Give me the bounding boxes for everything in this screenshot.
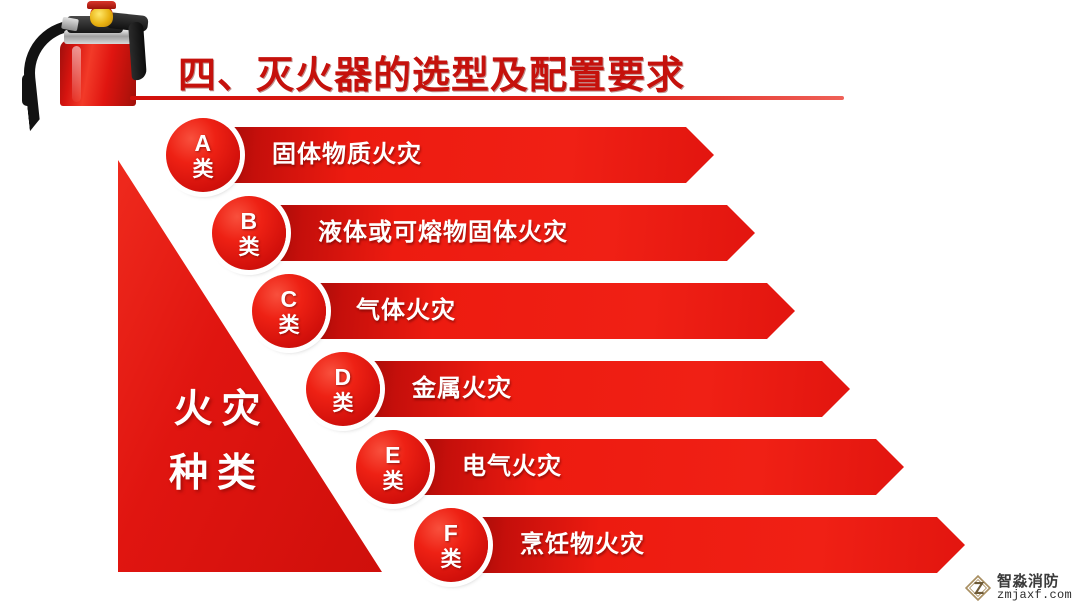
slide-canvas: 四、灭火器的选型及配置要求 火灾 种类 固体物质火灾 A 类 液体或可熔物固体火… — [0, 0, 1080, 608]
fire-class-letter: F — [414, 508, 488, 545]
watermark-url: zmjaxf.com — [997, 589, 1072, 602]
slide-header: 四、灭火器的选型及配置要求 — [0, 0, 1080, 108]
fire-class-word: 类 — [252, 311, 326, 338]
fire-class-badge-b[interactable]: B 类 — [212, 196, 286, 270]
page-title: 四、灭火器的选型及配置要求 — [178, 44, 685, 99]
fire-category-triangle-label: 火灾 种类 — [152, 378, 282, 506]
fire-class-arrow[interactable] — [270, 205, 755, 261]
fire-class-letter: A — [166, 118, 240, 155]
fire-class-word: 类 — [166, 155, 240, 182]
triangle-label-line-2: 种类 — [169, 452, 265, 495]
fire-class-badge-e[interactable]: E 类 — [356, 430, 430, 504]
fire-class-letter: B — [212, 196, 286, 233]
extinguisher-hose-tail — [22, 74, 34, 106]
fire-class-arrow[interactable] — [224, 127, 714, 183]
fire-class-word: 类 — [212, 233, 286, 260]
extinguisher-coupler — [61, 17, 79, 32]
fire-class-badge-a[interactable]: A 类 — [166, 118, 240, 192]
fire-class-arrow[interactable] — [414, 439, 904, 495]
diamond-z-logo-icon — [964, 574, 992, 602]
fire-class-letter: E — [356, 430, 430, 467]
triangle-label-line-1: 火灾 — [173, 388, 269, 431]
fire-extinguisher-icon — [6, 0, 174, 104]
fire-class-word: 类 — [306, 389, 380, 416]
fire-class-arrow[interactable] — [310, 283, 795, 339]
fire-class-letter: C — [252, 274, 326, 311]
fire-class-arrow[interactable] — [364, 361, 850, 417]
fire-class-badge-f[interactable]: F 类 — [414, 508, 488, 582]
extinguisher-body — [60, 40, 136, 106]
fire-class-word: 类 — [356, 467, 430, 494]
fire-class-badge-c[interactable]: C 类 — [252, 274, 326, 348]
fire-class-badge-d[interactable]: D 类 — [306, 352, 380, 426]
watermark-text: 智淼消防 zmjaxf.com — [997, 574, 1072, 602]
watermark: 智淼消防 zmjaxf.com — [964, 574, 1072, 602]
fire-class-diagram: 火灾 种类 固体物质火灾 A 类 液体或可熔物固体火灾 B 类 气体火灾 — [0, 108, 1080, 608]
title-underline-divider — [130, 96, 844, 100]
fire-class-arrow[interactable] — [472, 517, 965, 573]
fire-class-word: 类 — [414, 545, 488, 572]
watermark-brand-name: 智淼消防 — [997, 574, 1072, 590]
extinguisher-pressure-gauge — [90, 4, 113, 27]
fire-class-letter: D — [306, 352, 380, 389]
